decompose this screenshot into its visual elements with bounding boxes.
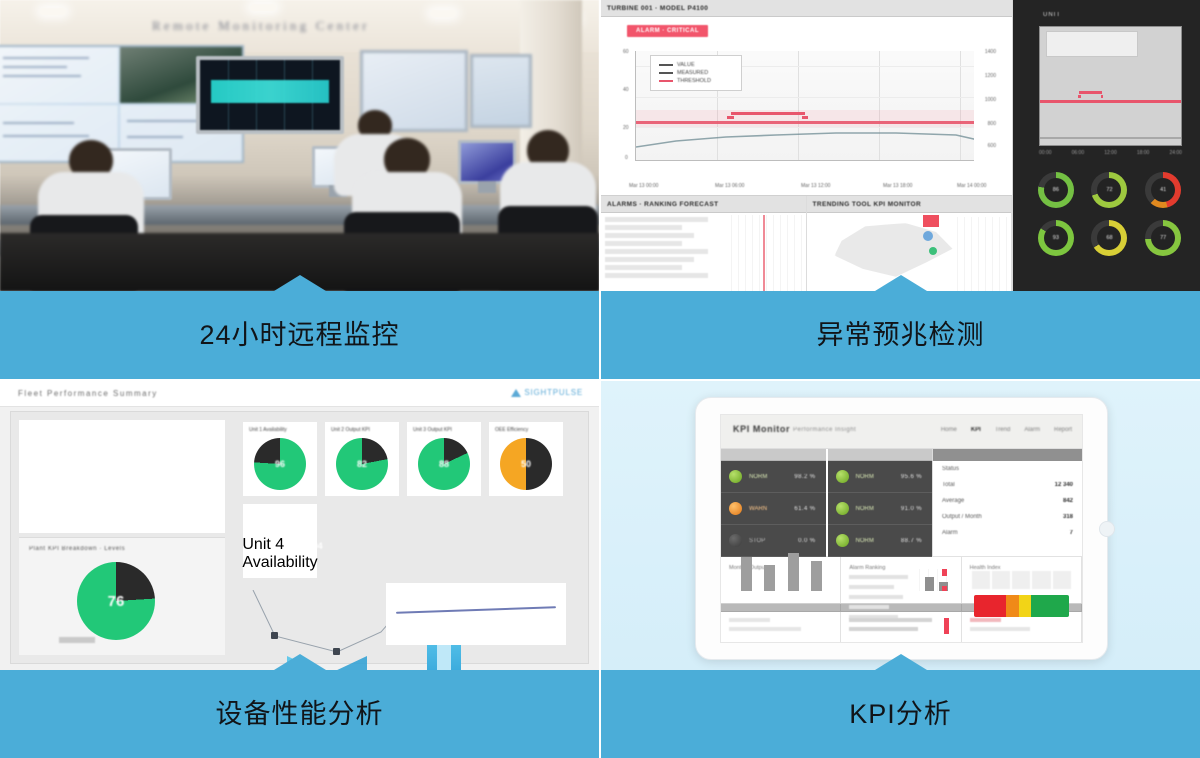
- subpanel-alarm-forecast[interactable]: ALARMS · RANKING FORECAST: [601, 196, 807, 291]
- x-axis-tick: Mar 13 06:00: [715, 183, 744, 189]
- mini-chart: [731, 215, 802, 291]
- bar-chart: [735, 537, 828, 591]
- gauge-card[interactable]: Unit 2 Output KPI 82: [325, 422, 399, 496]
- main-display-screen: [196, 56, 344, 134]
- app-tabs: Home KPI Trend Alarm Report: [941, 427, 1072, 433]
- tile-remote-monitoring[interactable]: Remote Monitoring Center: [0, 0, 599, 379]
- metric-label: Average: [942, 498, 964, 504]
- tile-caption-equipment-performance: 设备性能分析: [0, 670, 599, 758]
- caption-notch-icon: [875, 654, 927, 670]
- caption-notch-icon: [274, 654, 326, 670]
- performance-report-screenshot: Fleet Performance Summary SIGHTPULSE: [0, 381, 599, 670]
- remote-monitoring-photo: Remote Monitoring Center: [0, 0, 599, 291]
- caption-notch-icon: [274, 275, 326, 291]
- side-x-axis: 00:00 06:00 12:00 18:00 24:00: [1039, 150, 1182, 156]
- summary-footnote: [59, 637, 95, 643]
- card-health-index[interactable]: Health Index: [962, 557, 1082, 603]
- footer-card[interactable]: [962, 612, 1082, 642]
- plant-diagram: [241, 590, 578, 655]
- summary-donut-chart: 76: [77, 562, 155, 640]
- tab-report[interactable]: Report: [1054, 427, 1072, 433]
- control-room-scene: Remote Monitoring Center: [0, 0, 599, 291]
- summary-chart-card: Plant KPI Breakdown · Levels 76: [19, 537, 225, 655]
- report-header: Fleet Performance Summary SIGHTPULSE: [0, 381, 599, 407]
- panel-header: TURBINE 001 · MODEL P4100: [601, 0, 1012, 17]
- gauge-ring[interactable]: 77: [1145, 220, 1181, 256]
- donut-chart: 96: [254, 438, 306, 490]
- alarm-badge: ALARM · CRITICAL: [627, 25, 708, 37]
- diagram-node[interactable]: [271, 632, 278, 639]
- x-axis-tick: 24:00: [1169, 150, 1182, 156]
- brand-name: SIGHTPULSE: [524, 388, 583, 397]
- metric-row: Output / Month 318: [933, 509, 1082, 525]
- caption-label: KPI分析: [849, 701, 952, 728]
- room-signage: Remote Monitoring Center: [152, 18, 370, 34]
- gauge-card[interactable]: OEE Efficiency 50: [489, 422, 563, 496]
- status-label: NORM: [856, 474, 874, 480]
- gauge-caption: Unit 1 Availability: [249, 427, 311, 433]
- gauge-card[interactable]: Unit 3 Output KPI 88: [407, 422, 481, 496]
- y2-axis-tick: 600: [988, 143, 996, 149]
- report-title: Fleet Performance Summary: [18, 389, 158, 398]
- footer-card[interactable]: [841, 612, 961, 642]
- status-dot-warn-icon: [729, 502, 742, 515]
- diagram-node[interactable]: [333, 648, 340, 655]
- column-header: [721, 449, 826, 461]
- ceiling-light-icon: [40, 8, 66, 15]
- brand-logo: SIGHTPULSE: [511, 388, 583, 397]
- gauge-ring[interactable]: 93: [1038, 220, 1074, 256]
- donut-chart: 88: [418, 438, 470, 490]
- legend-item: MEASURED: [659, 70, 733, 76]
- metric-value: 842: [1063, 498, 1073, 504]
- tile-anomaly-detection[interactable]: TURBINE 001 · MODEL P4100 ALARM · CRITIC…: [599, 0, 1200, 379]
- home-button[interactable]: [1099, 521, 1115, 537]
- video-wall-panel: [0, 47, 118, 103]
- donut-chart: 50: [500, 438, 552, 490]
- chart-legend: VALUE MEASURED THRESHOLD: [650, 55, 742, 91]
- gauge-card[interactable]: Unit 4 Availability 94: [243, 504, 317, 578]
- anomaly-main-panel: TURBINE 001 · MODEL P4100 ALARM · CRITIC…: [601, 0, 1013, 291]
- tile-equipment-performance[interactable]: Fleet Performance Summary SIGHTPULSE: [0, 379, 599, 758]
- side-chart-legend: [1046, 31, 1138, 57]
- status-item[interactable]: WARN 61.4 %: [721, 493, 826, 525]
- y2-axis-tick: 800: [988, 121, 996, 127]
- panel-title: ALARMS · RANKING FORECAST: [607, 201, 718, 208]
- status-column-line-b: NORM 95.6 % NORM 91.0 %: [826, 449, 933, 556]
- metric-label: Output / Month: [942, 514, 982, 520]
- tablet-device: KPI Monitor Performance Insight Home KPI…: [695, 397, 1108, 660]
- metric-row: Average 842: [933, 493, 1082, 509]
- status-item[interactable]: NORM 98.2 %: [721, 461, 826, 493]
- side-panel-header: [933, 449, 1082, 461]
- y2-axis-tick: 1000: [985, 97, 996, 103]
- tab-kpi[interactable]: KPI: [971, 427, 981, 433]
- caption-label: 异常预兆检测: [817, 322, 985, 349]
- app-subtitle: Performance Insight: [793, 427, 856, 433]
- status-value: 98.2 %: [794, 474, 815, 480]
- status-label: NORM: [856, 538, 874, 544]
- caption-label: 24小时远程监控: [199, 322, 399, 349]
- card-monthly-output[interactable]: Monthly Output: [721, 557, 841, 603]
- status-item[interactable]: NORM 91.0 %: [828, 493, 933, 525]
- gauge-card-row: Unit 1 Availability 96 Unit 2 Output KPI…: [243, 422, 578, 496]
- x-axis-tick: 18:00: [1137, 150, 1150, 156]
- anomaly-dashboard-screenshot: TURBINE 001 · MODEL P4100 ALARM · CRITIC…: [601, 0, 1200, 291]
- status-value: 88.7 %: [901, 538, 922, 544]
- feature-grid: Remote Monitoring Center: [0, 0, 1200, 758]
- metric-value: 12 340: [1055, 482, 1073, 488]
- sub-panels: ALARMS · RANKING FORECAST: [601, 195, 1012, 291]
- side-metrics-panel: Status Total 12 340 Average: [932, 449, 1082, 556]
- status-item[interactable]: NORM 95.6 %: [828, 461, 933, 493]
- status-value: 61.4 %: [794, 506, 815, 512]
- panel-title: TRENDING TOOL KPI MONITOR: [813, 201, 922, 208]
- status-dot-ok-icon: [836, 470, 849, 483]
- ceiling-light-icon: [430, 10, 456, 17]
- tablet-screen: KPI Monitor Performance Insight Home KPI…: [720, 414, 1083, 643]
- report-text-card: [19, 420, 225, 533]
- gauge-caption: OEE Efficiency: [495, 427, 557, 433]
- mini-table: [972, 571, 1071, 589]
- x-axis-tick: 12:00: [1104, 150, 1117, 156]
- status-label: NORM: [749, 474, 767, 480]
- tile-caption-remote-monitoring: 24小时远程监控: [0, 291, 599, 379]
- x-axis-tick: Mar 14 00:00: [957, 183, 986, 189]
- x-axis-tick: Mar 13 00:00: [629, 183, 658, 189]
- metric-value: 318: [1063, 514, 1073, 520]
- plot-area: VALUE MEASURED THRESHOLD: [635, 51, 974, 161]
- bar: [741, 557, 752, 590]
- bar: [764, 565, 775, 591]
- brand-mark-icon: [511, 389, 521, 397]
- gauge-caption: Unit 3 Output KPI: [413, 427, 475, 433]
- metric-value: 7: [1070, 530, 1073, 536]
- gauge-ring[interactable]: 72: [1091, 172, 1127, 208]
- y-axis-tick: 0: [625, 155, 628, 161]
- status-label: WARN: [749, 506, 767, 512]
- metric-label: Status: [942, 466, 959, 472]
- gauge-grid: 86 72 41 93 68 77: [1029, 172, 1190, 256]
- y2-axis-tick: 1400: [985, 49, 996, 55]
- x-axis-tick: Mar 13 18:00: [883, 183, 912, 189]
- footer-card-row: [721, 612, 1082, 642]
- trend-curve: [396, 606, 556, 614]
- gauge-ring[interactable]: 68: [1091, 220, 1127, 256]
- tile-caption-anomaly-detection: 异常预兆检测: [601, 291, 1200, 379]
- status-value: 95.6 %: [901, 474, 922, 480]
- card-alarm-ranking[interactable]: Alarm Ranking: [841, 557, 961, 603]
- trend-chart: ALARM · CRITICAL 60 40 20 0 1400 1200 10…: [601, 17, 1012, 195]
- metric-label: Alarm: [942, 530, 958, 536]
- gauge-caption: Unit 2 Output KPI: [331, 427, 393, 433]
- side-panel-title: UNIT: [1043, 12, 1061, 18]
- y-axis-tick: 60: [623, 49, 629, 55]
- gauge-ring[interactable]: 86: [1038, 172, 1074, 208]
- status-dot-ok-icon: [729, 470, 742, 483]
- status-value: 91.0 %: [901, 506, 922, 512]
- status-item[interactable]: NORM 88.7 %: [828, 525, 933, 557]
- mini-chart: [919, 569, 950, 591]
- bar: [788, 553, 799, 591]
- x-axis-tick: 06:00: [1072, 150, 1085, 156]
- metric-row: Status: [933, 461, 1082, 477]
- bar: [811, 561, 822, 591]
- side-trend-chart: [1039, 26, 1182, 146]
- kpi-tablet-screenshot: KPI Monitor Performance Insight Home KPI…: [601, 381, 1200, 670]
- status-label: NORM: [856, 506, 874, 512]
- waveform: [211, 80, 329, 104]
- tile-kpi-analysis[interactable]: KPI Monitor Performance Insight Home KPI…: [599, 379, 1200, 758]
- footer-card[interactable]: [721, 612, 841, 642]
- metric-row: Total 12 340: [933, 477, 1082, 493]
- metric-row: Alarm 7: [933, 525, 1082, 541]
- column-header: [828, 449, 933, 461]
- status-dot-ok-icon: [836, 502, 849, 515]
- turbine-icon: [333, 656, 367, 670]
- ceiling-light-icon: [250, 4, 276, 11]
- x-axis-tick: 00:00: [1039, 150, 1052, 156]
- summary-chart-caption: Plant KPI Breakdown · Levels: [29, 546, 125, 552]
- tab-alarm[interactable]: Alarm: [1024, 427, 1040, 433]
- anomaly-side-panel: UNIT 00:00 06:00 12:00 18:00: [1013, 0, 1200, 291]
- mini-chart: [957, 217, 1008, 291]
- panel-title: TURBINE 001 · MODEL P4100: [607, 5, 708, 12]
- tab-home[interactable]: Home: [941, 427, 957, 433]
- mini-table: [605, 217, 725, 281]
- side-display-screen: [470, 54, 532, 128]
- map-marker[interactable]: [929, 247, 937, 255]
- y-axis-tick: 40: [623, 87, 629, 93]
- app-title: KPI Monitor: [733, 424, 790, 434]
- x-axis-tick: Mar 13 12:00: [801, 183, 830, 189]
- legend-item: THRESHOLD: [659, 78, 733, 84]
- status-dot-ok-icon: [836, 534, 849, 547]
- donut-chart: 82: [336, 438, 388, 490]
- map-marker[interactable]: [923, 231, 933, 241]
- y2-axis-tick: 1200: [985, 73, 996, 79]
- legend-item: VALUE: [659, 62, 733, 68]
- caption-notch-icon: [875, 275, 927, 291]
- y-axis-tick: 20: [623, 125, 629, 131]
- map-alert-marker[interactable]: [923, 215, 939, 227]
- gauge-caption: Unit 4 Availability: [242, 536, 317, 572]
- gauge-ring[interactable]: 41: [1145, 172, 1181, 208]
- tab-trend[interactable]: Trend: [995, 427, 1010, 433]
- metric-label: Total: [942, 482, 955, 488]
- caption-label: 设备性能分析: [216, 701, 384, 728]
- gauge-card[interactable]: Unit 1 Availability 96: [243, 422, 317, 496]
- tile-caption-kpi-analysis: KPI分析: [601, 670, 1200, 758]
- app-header: KPI Monitor Performance Insight Home KPI…: [721, 415, 1082, 449]
- chart-card-row: Monthly Output Alarm Rank: [721, 557, 1082, 604]
- trend-mini-card: [386, 583, 566, 645]
